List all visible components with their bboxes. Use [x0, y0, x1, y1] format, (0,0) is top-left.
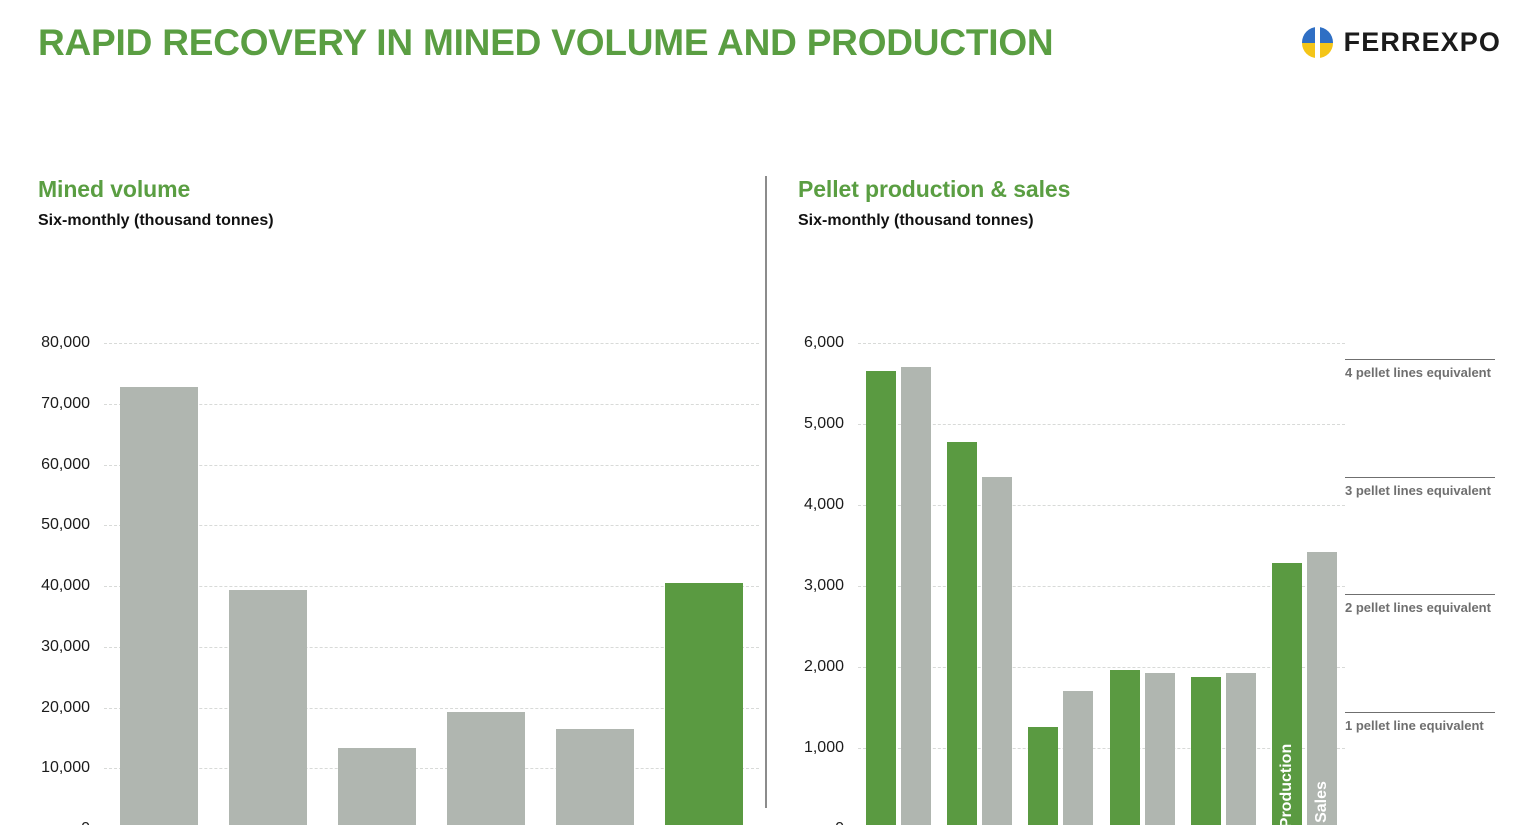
bar-group: 1H 2023: [432, 343, 541, 825]
panel-subtitle-mined-volume: Six-monthly (thousand tonnes): [38, 212, 743, 230]
bar: [229, 590, 307, 825]
y-axis-tick-label: 70,000: [41, 395, 104, 413]
annotation-label: 4 pellet lines equivalent: [1345, 365, 1498, 380]
bar-inline-label-sales: Sales: [1313, 781, 1331, 823]
page-title: Rapid recovery in mined volume and produ…: [38, 22, 1053, 64]
bar-sales: [1063, 691, 1093, 825]
bar-sales: [1145, 673, 1175, 825]
bar-group: 2H 2023: [1183, 343, 1264, 825]
panel-title-mined-volume: Mined volume: [38, 176, 743, 203]
bar-group: ProductionSales1H 2024: [1264, 343, 1345, 825]
y-axis-tick-label: 20,000: [41, 699, 104, 717]
logo-mark-gap: [1315, 27, 1320, 58]
bar-production: [947, 442, 977, 825]
pellet-line-annotations: 4 pellet lines equivalent3 pellet lines …: [1345, 343, 1498, 825]
bar-sales: Sales: [1307, 552, 1337, 825]
y-axis-tick-label: 0: [835, 820, 858, 825]
bar: [556, 729, 634, 825]
chart-pellet-production-sales: 6,0005,0004,0003,0002,0001,00002H 20211H…: [798, 230, 1498, 825]
y-axis-tick-label: 4,000: [804, 496, 858, 514]
y-axis-tick-label: 40,000: [41, 577, 104, 595]
chart-mined-volume: 80,00070,00060,00050,00040,00030,00020,0…: [38, 230, 743, 825]
bar-group: 2H 2021: [104, 343, 213, 825]
bar-group: 2H 2021: [858, 343, 939, 825]
bar-group: 2H 2023: [541, 343, 650, 825]
bar-group: 1H 2023: [1102, 343, 1183, 825]
plot-area-pellet: 6,0005,0004,0003,0002,0001,00002H 20211H…: [858, 343, 1345, 825]
annotation-pellet-line: 1 pellet line equivalent: [1345, 712, 1498, 733]
bar-sales: [1226, 673, 1256, 825]
bar-production: [1191, 677, 1221, 825]
y-axis-tick-label: 2,000: [804, 658, 858, 676]
y-axis-tick-label: 60,000: [41, 456, 104, 474]
bar-sales: [982, 477, 1012, 825]
y-axis-tick-label: 30,000: [41, 638, 104, 656]
panel-pellet-production-sales: Pellet production & sales Six-monthly (t…: [798, 176, 1498, 825]
annotation-label: 3 pellet lines equivalent: [1345, 483, 1498, 498]
annotation-label: 2 pellet lines equivalent: [1345, 600, 1498, 615]
bar-inline-label-production: Production: [1278, 744, 1296, 825]
bar: [120, 387, 198, 825]
annotation-rule: [1345, 477, 1495, 478]
bar: [338, 748, 416, 825]
bar-group: 1H 2024: [650, 343, 759, 825]
brand-name: FERREXPO: [1344, 27, 1501, 58]
ferrexpo-logo-mark-icon: [1302, 27, 1333, 58]
panel-title-pellet: Pellet production & sales: [798, 176, 1498, 203]
y-axis-tick-label: 3,000: [804, 577, 858, 595]
annotation-pellet-line: 3 pellet lines equivalent: [1345, 477, 1498, 498]
y-axis-tick-label: 5,000: [804, 415, 858, 433]
bar-sales: [901, 367, 931, 825]
slide-root: Rapid recovery in mined volume and produ…: [0, 0, 1534, 825]
bar-group: 1H 2022: [213, 343, 322, 825]
bar-production: [866, 371, 896, 825]
annotation-pellet-line: 2 pellet lines equivalent: [1345, 594, 1498, 615]
bar-production: [1110, 670, 1140, 825]
bar-production: Production: [1272, 563, 1302, 825]
bar: [665, 583, 743, 825]
y-axis-tick-label: 10,000: [41, 759, 104, 777]
bar-production: [1028, 727, 1058, 825]
panel-mined-volume: Mined volume Six-monthly (thousand tonne…: [38, 176, 743, 825]
bar: [447, 712, 525, 825]
panel-subtitle-pellet: Six-monthly (thousand tonnes): [798, 212, 1498, 230]
y-axis-tick-label: 0: [81, 820, 104, 825]
bar-group: 2H 2022: [322, 343, 431, 825]
annotation-label: 1 pellet line equivalent: [1345, 718, 1498, 733]
annotation-rule: [1345, 359, 1495, 360]
bar-group: 1H 2022: [939, 343, 1020, 825]
annotation-pellet-line: 4 pellet lines equivalent: [1345, 359, 1498, 380]
panel-divider: [765, 176, 767, 808]
y-axis-tick-label: 80,000: [41, 334, 104, 352]
annotation-rule: [1345, 712, 1495, 713]
annotation-rule: [1345, 594, 1495, 595]
bar-group: 2H 2022: [1020, 343, 1101, 825]
y-axis-tick-label: 6,000: [804, 334, 858, 352]
brand-logo: FERREXPO: [1302, 27, 1501, 58]
plot-area-mined-volume: 80,00070,00060,00050,00040,00030,00020,0…: [104, 343, 759, 825]
y-axis-tick-label: 50,000: [41, 516, 104, 534]
y-axis-tick-label: 1,000: [804, 739, 858, 757]
